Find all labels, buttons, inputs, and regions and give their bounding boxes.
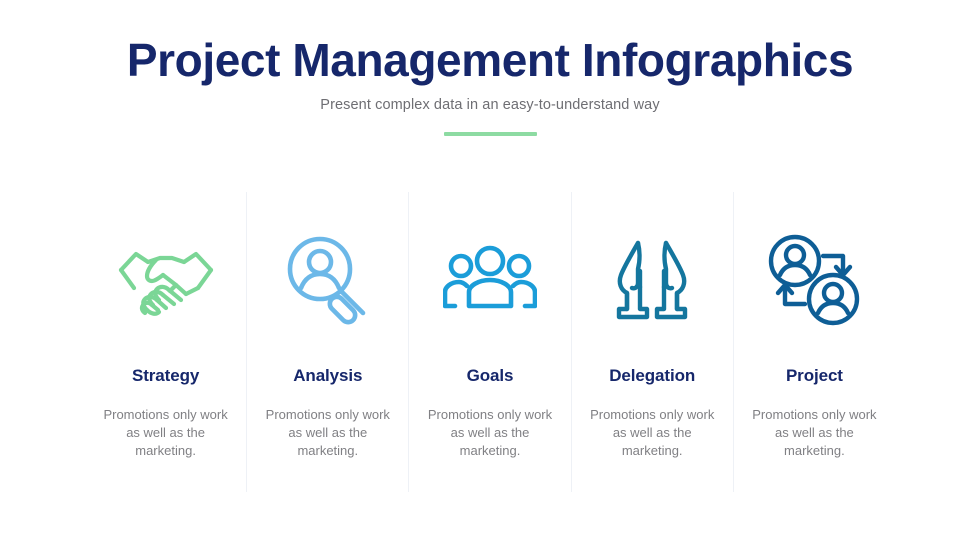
card-body: Promotions only work as well as the mark… — [428, 406, 553, 460]
page-title: Project Management Infographics — [0, 36, 980, 84]
card-title: Delegation — [609, 367, 695, 384]
infographic-slide: Project Management Infographics Present … — [0, 0, 980, 551]
handshake-icon — [114, 192, 218, 367]
header: Project Management Infographics Present … — [0, 36, 980, 136]
column-strategy[interactable]: Strategy Promotions only work as well as… — [85, 192, 246, 492]
person-search-icon — [283, 192, 373, 367]
card-title: Strategy — [132, 367, 199, 384]
columns-container: Strategy Promotions only work as well as… — [85, 192, 895, 492]
column-project[interactable]: Project Promotions only work as well as … — [733, 192, 895, 492]
card-title: Goals — [467, 367, 514, 384]
column-analysis[interactable]: Analysis Promotions only work as well as… — [246, 192, 408, 492]
page-subtitle: Present complex data in an easy-to-under… — [0, 97, 980, 113]
accent-divider — [444, 132, 537, 136]
card-title: Project — [786, 367, 843, 384]
card-title: Analysis — [293, 367, 362, 384]
column-delegation[interactable]: Delegation Promotions only work as well … — [571, 192, 733, 492]
user-transfer-icon — [767, 192, 861, 367]
card-body: Promotions only work as well as the mark… — [265, 406, 390, 460]
two-hands-icon — [607, 192, 697, 367]
people-group-icon — [443, 192, 537, 367]
card-body: Promotions only work as well as the mark… — [103, 406, 228, 460]
card-body: Promotions only work as well as the mark… — [590, 406, 715, 460]
card-body: Promotions only work as well as the mark… — [752, 406, 877, 460]
column-goals[interactable]: Goals Promotions only work as well as th… — [408, 192, 570, 492]
